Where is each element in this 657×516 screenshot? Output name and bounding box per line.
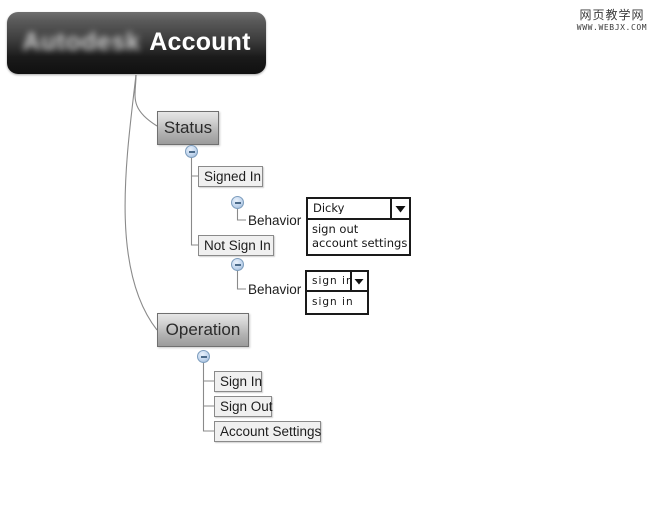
branch-node-status-label: Status (164, 118, 212, 138)
collapse-minus-icon-status[interactable] (185, 145, 198, 158)
collapse-minus-icon-operation[interactable] (197, 350, 210, 363)
node-operation-sign-in[interactable]: Sign In (214, 371, 262, 392)
label-behavior-not-sign-in: Behavior (248, 282, 301, 297)
chevron-down-icon-account[interactable] (390, 199, 409, 218)
watermark: 网页教学网 WWW.WEBJX.COM (573, 8, 651, 33)
mindmap-canvas: Autodesk Account Status Operation Signed… (0, 0, 657, 516)
node-operation-sign-in-label: Sign In (220, 374, 262, 389)
mock-signin-dropdown[interactable]: sign in sign in (305, 270, 369, 315)
collapse-minus-icon-signed-in[interactable] (231, 196, 244, 209)
branch-node-operation[interactable]: Operation (157, 313, 249, 347)
node-operation-account-settings[interactable]: Account Settings (214, 421, 321, 442)
root-title-text: Account (149, 28, 250, 57)
branch-node-operation-label: Operation (166, 320, 241, 340)
chevron-down-icon-signin[interactable] (350, 272, 367, 290)
root-brand-blurred: Autodesk (22, 28, 140, 57)
mock-account-dropdown-field[interactable]: Dicky (308, 199, 409, 220)
mock-signin-dropdown-menu: sign in (307, 292, 367, 309)
mock-account-dropdown-value: Dicky (308, 203, 390, 215)
node-operation-sign-out[interactable]: Sign Out (214, 396, 272, 417)
label-behavior-signed-in: Behavior (248, 213, 301, 228)
branch-node-status[interactable]: Status (157, 111, 219, 145)
mock-signin-menu-item-sign-in[interactable]: sign in (312, 295, 367, 309)
root-title: Autodesk Account (22, 28, 250, 59)
connector-wires (0, 0, 657, 516)
mock-signin-dropdown-field[interactable]: sign in (307, 272, 367, 292)
watermark-url: WWW.WEBJX.COM (573, 22, 651, 33)
root-node-account[interactable]: Autodesk Account (7, 12, 266, 74)
mock-account-dropdown-menu: sign out account settings (308, 220, 409, 251)
node-signed-in-label: Signed In (204, 169, 261, 184)
node-not-sign-in-label: Not Sign In (204, 238, 271, 253)
mock-account-menu-item-account-settings[interactable]: account settings (312, 236, 409, 250)
mock-account-dropdown[interactable]: Dicky sign out account settings (306, 197, 411, 256)
node-operation-account-settings-label: Account Settings (220, 424, 321, 439)
collapse-minus-icon-not-sign-in[interactable] (231, 258, 244, 271)
node-operation-sign-out-label: Sign Out (220, 399, 273, 414)
node-not-sign-in[interactable]: Not Sign In (198, 235, 274, 256)
watermark-site-name: 网页教学网 (573, 8, 651, 22)
mock-signin-dropdown-value: sign in (307, 276, 350, 287)
mock-account-menu-item-sign-out[interactable]: sign out (312, 222, 409, 236)
node-signed-in[interactable]: Signed In (198, 166, 263, 187)
